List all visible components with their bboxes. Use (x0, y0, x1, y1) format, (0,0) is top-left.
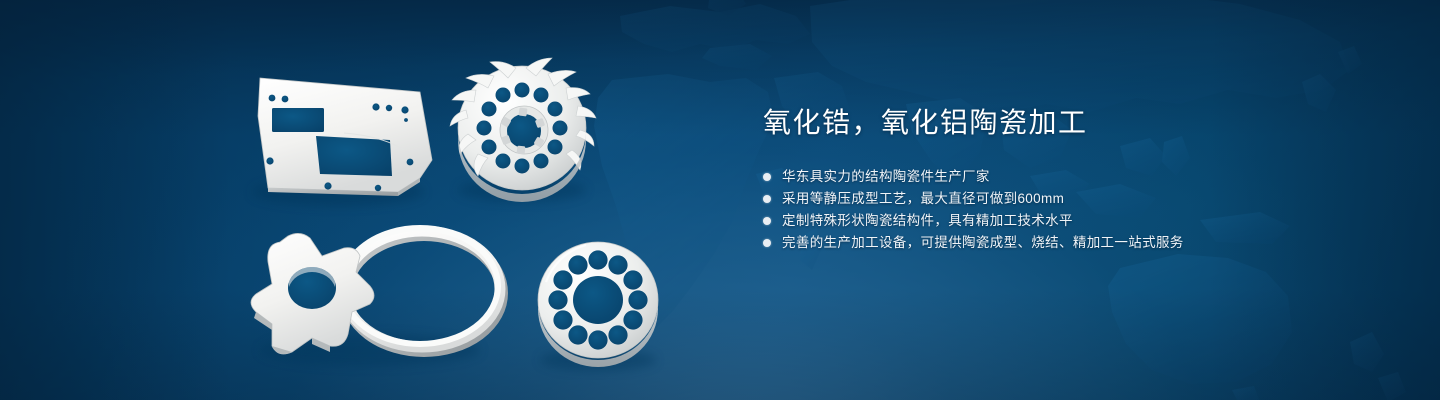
banner-text-block: 氧化锆，氧化铝陶瓷加工 华东具实力的结构陶瓷件生产厂家 采用等静压成型工艺，最大… (763, 104, 1383, 254)
list-item: 完善的生产加工设备，可提供陶瓷成型、烧结、精加工一站式服务 (763, 232, 1383, 254)
bullet-dot-icon (763, 173, 771, 181)
list-item-label: 华东具实力的结构陶瓷件生产厂家 (782, 166, 990, 188)
list-item: 定制特殊形状陶瓷结构件，具有精加工技术水平 (763, 210, 1383, 232)
list-item-label: 采用等静压成型工艺，最大直径可做到600mm (782, 188, 1064, 210)
bullet-dot-icon (763, 195, 771, 203)
list-item-label: 定制特殊形状陶瓷结构件，具有精加工技术水平 (782, 210, 1073, 232)
list-item-label: 完善的生产加工设备，可提供陶瓷成型、烧结、精加工一站式服务 (782, 232, 1184, 254)
list-item: 华东具实力的结构陶瓷件生产厂家 (763, 166, 1383, 188)
page-title: 氧化锆，氧化铝陶瓷加工 (763, 104, 1383, 142)
bullet-dot-icon (763, 239, 771, 247)
list-item: 采用等静压成型工艺，最大直径可做到600mm (763, 188, 1383, 210)
hero-banner: 氧化锆，氧化铝陶瓷加工 华东具实力的结构陶瓷件生产厂家 采用等静压成型工艺，最大… (0, 0, 1440, 400)
feature-list: 华东具实力的结构陶瓷件生产厂家 采用等静压成型工艺，最大直径可做到600mm 定… (763, 166, 1383, 254)
bullet-dot-icon (763, 217, 771, 225)
